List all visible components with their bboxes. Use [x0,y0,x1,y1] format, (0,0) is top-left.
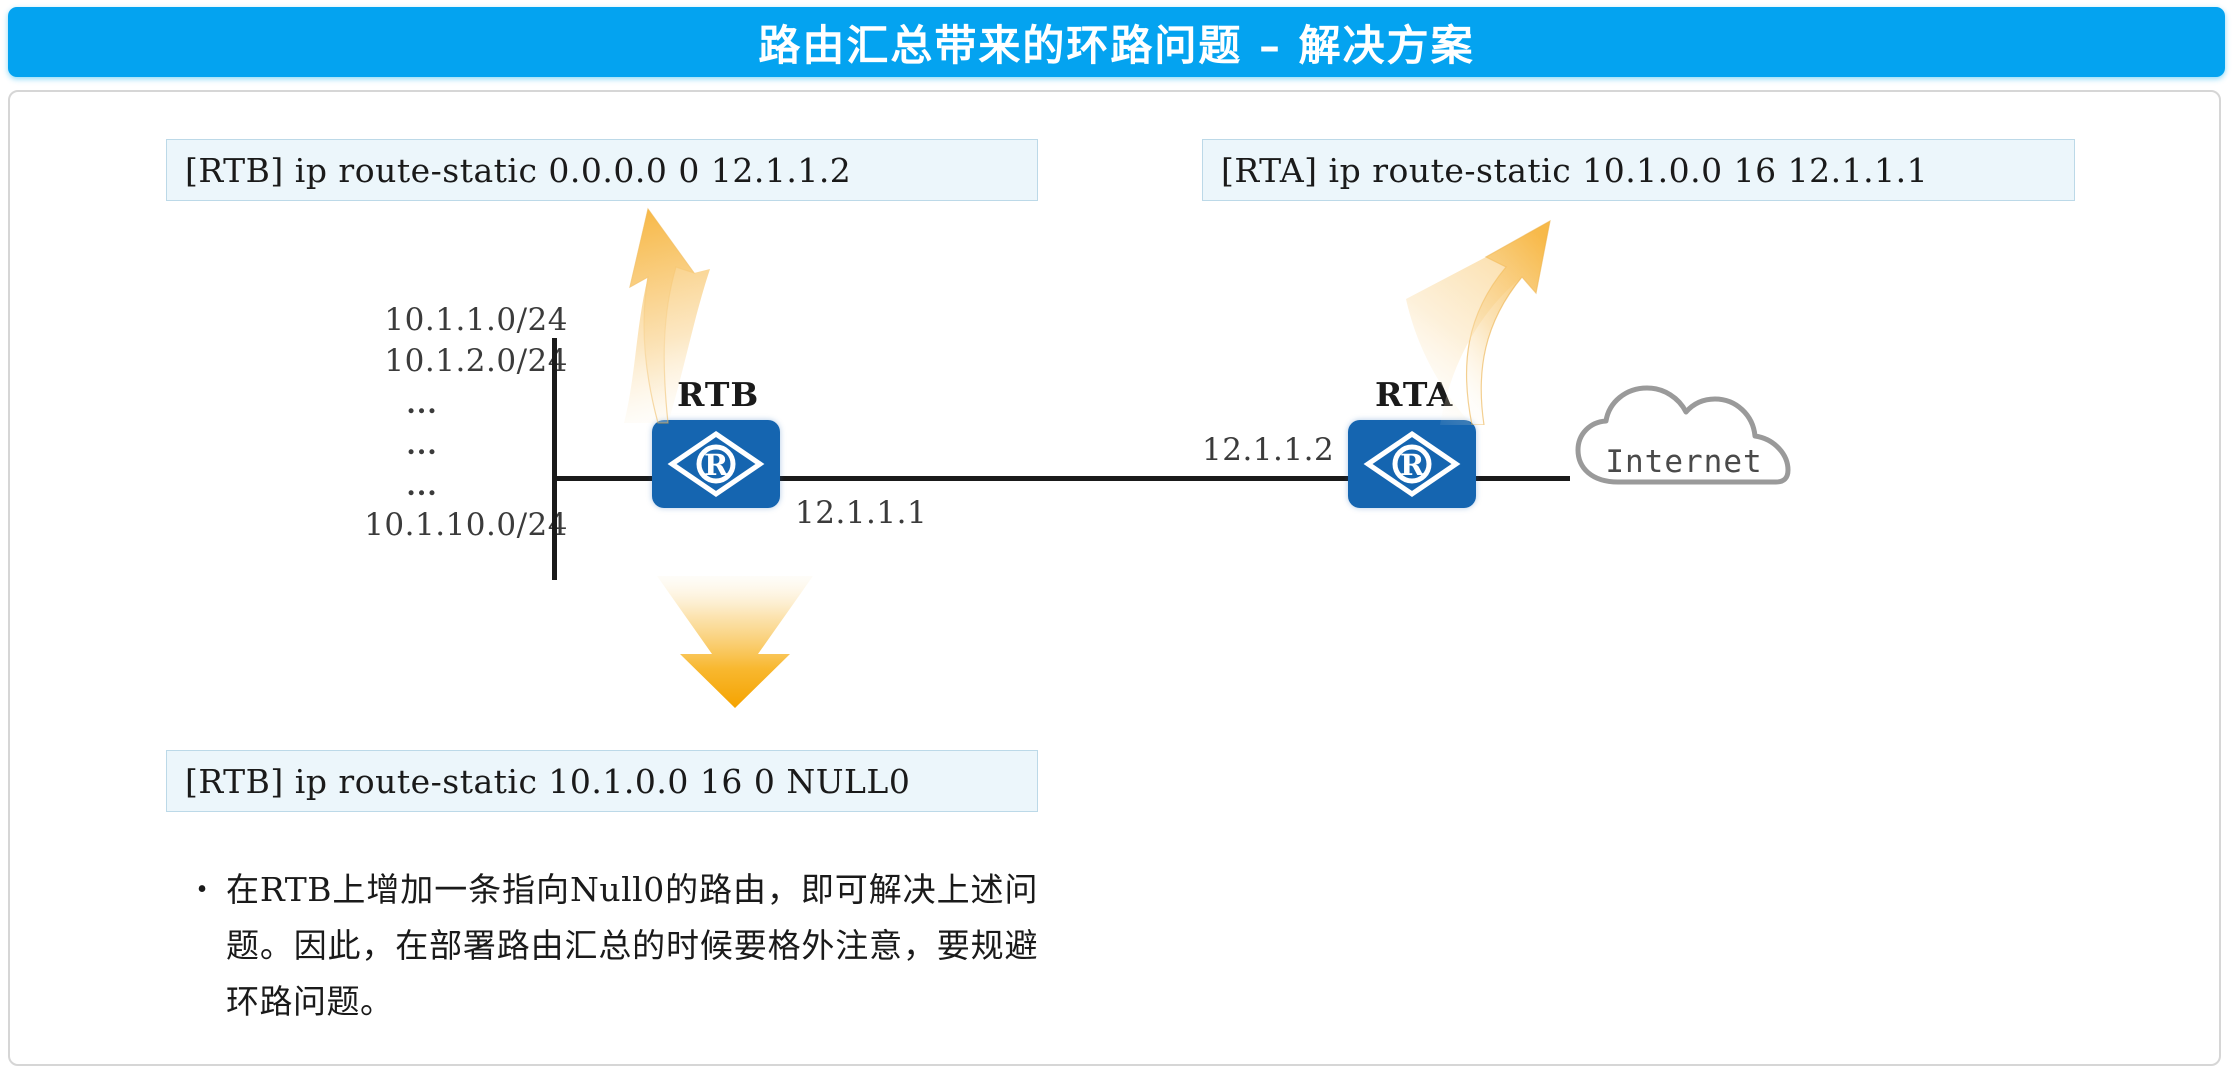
command-text-rtb-default-route: [RTB] ip route-static 0.0.0.0 0 12.1.1.2 [185,151,851,190]
router-icon: R [1348,420,1476,508]
page-title-bar: 路由汇总带来的环路问题 – 解决方案 [8,7,2225,77]
command-box-rtb-null0-route: [RTB] ip route-static 10.1.0.0 16 0 NULL… [166,750,1038,812]
network-prefix-list: 10.1.1.0/24 10.1.2.0/24 … … … 10.1.10.0/… [318,300,568,546]
command-text-rta-summary-route: [RTA] ip route-static 10.1.0.0 16 12.1.1… [1221,151,1928,190]
bullet-marker: • [178,862,226,918]
lan-bus-line [552,338,557,580]
network-prefix-ellipsis: … [318,464,568,505]
network-prefix-item: 10.1.1.0/24 [318,300,568,341]
arrow-curved-up-right-icon [1380,195,1600,425]
explanatory-note: • 在RTB上增加一条指向Null0的路由，即可解决上述问题。因此，在部署路由汇… [178,862,1038,1030]
arrow-down-icon [645,568,825,718]
svg-text:R: R [704,448,729,482]
command-box-rta-summary-route: [RTA] ip route-static 10.1.0.0 16 12.1.1… [1202,139,2075,201]
command-text-rtb-null0-route: [RTB] ip route-static 10.1.0.0 16 0 NULL… [185,762,910,801]
note-text: 在RTB上增加一条指向Null0的路由，即可解决上述问题。因此，在部署路由汇总的… [226,862,1038,1030]
lan-bus-stub-line [552,476,652,481]
svg-text:R: R [1400,448,1425,482]
router-icon-rta[interactable]: R [1348,420,1476,508]
link-line-rta-internet [1470,476,1570,481]
interface-ip-label-rta: 12.1.1.2 [1202,432,1334,468]
command-box-rtb-default-route: [RTB] ip route-static 0.0.0.0 0 12.1.1.2 [166,139,1038,201]
cloud-label-internet: Internet [1604,444,1764,480]
interface-ip-label-rtb: 12.1.1.1 [795,495,927,531]
page-title: 路由汇总带来的环路问题 – 解决方案 [758,12,1474,73]
network-prefix-ellipsis: … [318,423,568,464]
network-prefix-item: 10.1.10.0/24 [318,505,568,546]
link-line-rtb-rta [780,476,1355,481]
router-icon-rtb[interactable]: R [652,420,780,508]
network-prefix-item: 10.1.2.0/24 [318,341,568,382]
network-prefix-ellipsis: … [318,382,568,423]
router-icon: R [652,420,780,508]
arrow-curved-up-left-icon [590,195,810,425]
